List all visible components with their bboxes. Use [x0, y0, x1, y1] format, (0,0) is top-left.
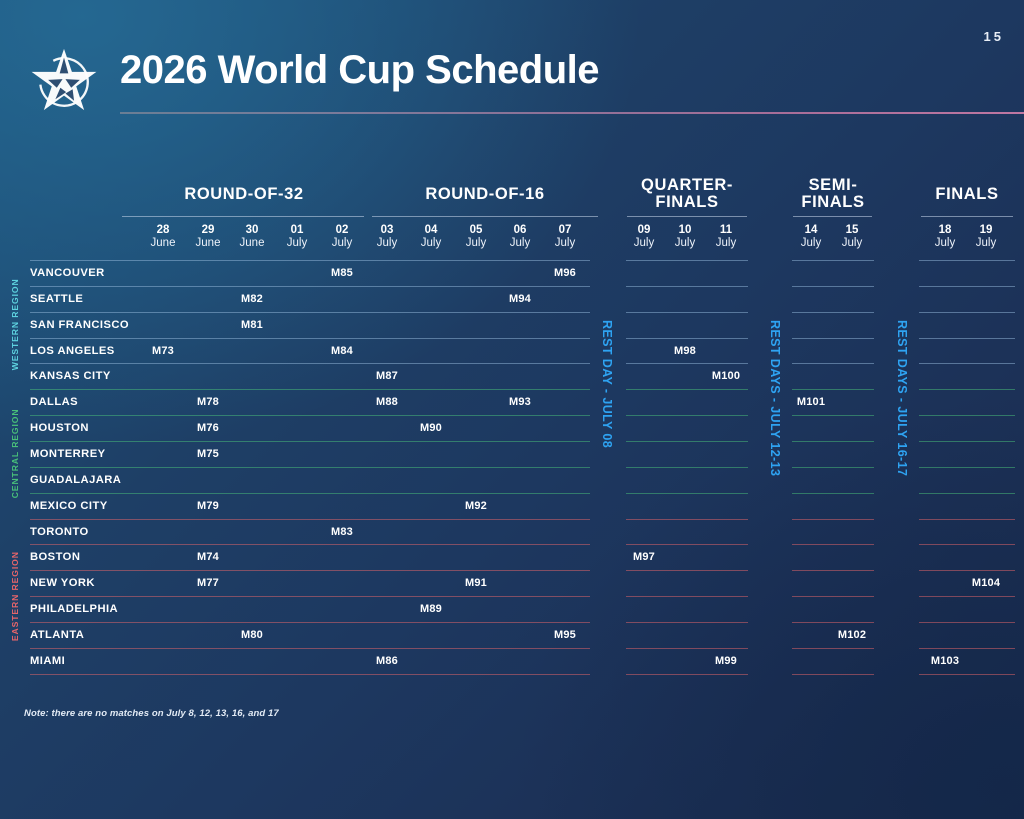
page-header: 2026 World Cup Schedule — [22, 44, 1002, 116]
rest-july-08: REST DAY - JULY 08 — [600, 320, 614, 448]
match-m89[interactable]: M89 — [406, 603, 456, 615]
stage-rule-round-of-16 — [372, 216, 598, 217]
row-separator — [919, 622, 1015, 623]
date-column-jul19[interactable]: 19July — [966, 224, 1006, 250]
match-m86[interactable]: M86 — [362, 655, 412, 667]
row-separator — [626, 544, 748, 545]
row-separator — [919, 467, 1015, 468]
row-separator — [792, 286, 874, 287]
date-column-jul02[interactable]: 02July — [322, 224, 362, 250]
row-separator — [919, 338, 1015, 339]
city-row-kansas-city[interactable]: KANSAS CITY — [30, 370, 111, 382]
date-day: 11 — [706, 224, 746, 237]
date-month: June — [143, 237, 183, 250]
row-separator — [626, 338, 748, 339]
date-month: July — [791, 237, 831, 250]
row-separator — [919, 596, 1015, 597]
row-separator — [626, 622, 748, 623]
row-separator — [30, 544, 590, 545]
title-divider — [120, 112, 1024, 114]
row-separator — [792, 570, 874, 571]
match-m80[interactable]: M80 — [227, 629, 277, 641]
date-column-jun29[interactable]: 29June — [188, 224, 228, 250]
match-m81[interactable]: M81 — [227, 319, 277, 331]
row-separator — [792, 467, 874, 468]
row-separator — [30, 596, 590, 597]
match-m82[interactable]: M82 — [227, 293, 277, 305]
row-separator — [919, 312, 1015, 313]
city-row-vancouver[interactable]: VANCOUVER — [30, 267, 105, 279]
match-m100[interactable]: M100 — [701, 370, 751, 382]
row-separator — [30, 286, 590, 287]
match-m91[interactable]: M91 — [451, 577, 501, 589]
row-separator — [919, 648, 1015, 649]
row-separator — [792, 338, 874, 339]
page-number: 15 — [984, 29, 1004, 44]
match-m97[interactable]: M97 — [619, 551, 669, 563]
city-row-philadelphia[interactable]: PHILADELPHIA — [30, 603, 118, 615]
row-separator — [792, 622, 874, 623]
match-m96[interactable]: M96 — [540, 267, 590, 279]
date-month: July — [545, 237, 585, 250]
date-day: 15 — [832, 224, 872, 237]
city-row-atlanta[interactable]: ATLANTA — [30, 629, 84, 641]
row-separator — [626, 415, 748, 416]
row-separator — [919, 389, 1015, 390]
city-row-dallas[interactable]: DALLAS — [30, 396, 78, 408]
date-month: July — [832, 237, 872, 250]
date-day: 04 — [411, 224, 451, 237]
city-row-guadalajara[interactable]: GUADALAJARA — [30, 474, 121, 486]
stage-rule-semi-finals — [793, 216, 872, 217]
row-separator — [626, 260, 748, 261]
row-separator — [30, 570, 590, 571]
row-separator — [792, 312, 874, 313]
city-row-monterrey[interactable]: MONTERREY — [30, 448, 106, 460]
row-separator — [626, 570, 748, 571]
date-column-jul11[interactable]: 11July — [706, 224, 746, 250]
row-separator — [919, 519, 1015, 520]
date-day: 14 — [791, 224, 831, 237]
rest-july-12-13: REST DAYS - JULY 12-13 — [768, 320, 782, 476]
match-m98[interactable]: M98 — [660, 345, 710, 357]
match-m74[interactable]: M74 — [183, 551, 233, 563]
date-column-jul03[interactable]: 03July — [367, 224, 407, 250]
city-row-miami[interactable]: MIAMI — [30, 655, 65, 667]
date-day: 01 — [277, 224, 317, 237]
date-day: 07 — [545, 224, 585, 237]
date-column-jul05[interactable]: 05July — [456, 224, 496, 250]
row-separator — [919, 441, 1015, 442]
row-separator — [30, 674, 590, 675]
date-column-jul10[interactable]: 10July — [665, 224, 705, 250]
region-label-western: WESTERN REGION — [10, 260, 20, 389]
date-month: July — [925, 237, 965, 250]
date-column-jul01[interactable]: 01July — [277, 224, 317, 250]
region-label-eastern: EASTERN REGION — [10, 519, 20, 674]
row-separator — [792, 260, 874, 261]
sf-line-1: SEMI- — [809, 176, 858, 194]
date-day: 10 — [665, 224, 705, 237]
row-separator — [626, 596, 748, 597]
date-column-jul04[interactable]: 04July — [411, 224, 451, 250]
row-separator — [30, 338, 590, 339]
row-separator — [919, 363, 1015, 364]
row-separator — [626, 312, 748, 313]
match-m88[interactable]: M88 — [362, 396, 412, 408]
row-separator — [626, 493, 748, 494]
date-column-jul07[interactable]: 07July — [545, 224, 585, 250]
row-separator — [792, 596, 874, 597]
match-m101[interactable]: M101 — [786, 396, 836, 408]
date-month: July — [966, 237, 1006, 250]
row-separator — [30, 467, 590, 468]
date-day: 18 — [925, 224, 965, 237]
match-m73[interactable]: M73 — [138, 345, 188, 357]
stage-heading-finals: FINALS — [919, 186, 1015, 203]
row-separator — [30, 648, 590, 649]
match-m90[interactable]: M90 — [406, 422, 456, 434]
row-separator — [30, 312, 590, 313]
row-separator — [792, 493, 874, 494]
match-m103[interactable]: M103 — [920, 655, 970, 667]
row-separator — [919, 493, 1015, 494]
stage-rule-finals — [921, 216, 1013, 217]
date-day: 09 — [624, 224, 664, 237]
stage-heading-round-of-16: ROUND-OF-16 — [369, 186, 601, 203]
match-m93[interactable]: M93 — [495, 396, 545, 408]
city-row-toronto[interactable]: TORONTO — [30, 526, 89, 538]
date-column-jul06[interactable]: 06July — [500, 224, 540, 250]
row-separator — [30, 389, 590, 390]
match-m95[interactable]: M95 — [540, 629, 590, 641]
row-separator — [792, 544, 874, 545]
stage-rule-quarter-finals — [627, 216, 747, 217]
match-m78[interactable]: M78 — [183, 396, 233, 408]
match-m83[interactable]: M83 — [317, 526, 367, 538]
match-m76[interactable]: M76 — [183, 422, 233, 434]
row-separator — [30, 415, 590, 416]
match-m99[interactable]: M99 — [701, 655, 751, 667]
date-column-jul18[interactable]: 18July — [925, 224, 965, 250]
date-day: 05 — [456, 224, 496, 237]
date-month: July — [322, 237, 362, 250]
row-separator — [792, 441, 874, 442]
match-m79[interactable]: M79 — [183, 500, 233, 512]
date-month: June — [232, 237, 272, 250]
row-separator — [792, 648, 874, 649]
date-month: June — [188, 237, 228, 250]
footnote: Note: there are no matches on July 8, 12… — [24, 708, 279, 719]
row-separator — [792, 389, 874, 390]
city-row-los-angeles[interactable]: LOS ANGELES — [30, 345, 115, 357]
match-m87[interactable]: M87 — [362, 370, 412, 382]
row-separator — [30, 519, 590, 520]
date-day: 19 — [966, 224, 1006, 237]
row-separator — [30, 622, 590, 623]
date-month: July — [456, 237, 496, 250]
date-month: July — [411, 237, 451, 250]
date-column-jun28[interactable]: 28June — [143, 224, 183, 250]
date-day: 28 — [143, 224, 183, 237]
row-separator — [626, 467, 748, 468]
page-title: 2026 World Cup Schedule — [120, 48, 599, 93]
row-separator — [30, 493, 590, 494]
row-separator — [626, 519, 748, 520]
row-separator — [626, 648, 748, 649]
stage-heading-quarter-finals: QUARTER- FINALS — [626, 177, 748, 212]
date-month: July — [665, 237, 705, 250]
date-day: 03 — [367, 224, 407, 237]
row-separator — [919, 674, 1015, 675]
city-row-new-york[interactable]: NEW YORK — [30, 577, 95, 589]
row-separator — [30, 441, 590, 442]
row-separator — [792, 674, 874, 675]
row-separator — [792, 363, 874, 364]
match-m102[interactable]: M102 — [827, 629, 877, 641]
date-day: 02 — [322, 224, 362, 237]
date-month: July — [277, 237, 317, 250]
date-day: 06 — [500, 224, 540, 237]
city-row-san-francisco[interactable]: SAN FRANCISCO — [30, 319, 129, 331]
row-separator — [919, 415, 1015, 416]
row-separator — [626, 389, 748, 390]
city-row-houston[interactable]: HOUSTON — [30, 422, 89, 434]
stage-rule-round-of-32 — [122, 216, 364, 217]
row-separator — [626, 286, 748, 287]
date-month: July — [367, 237, 407, 250]
row-separator — [30, 260, 590, 261]
qf-line-2: FINALS — [655, 193, 718, 211]
city-row-mexico-city[interactable]: MEXICO CITY — [30, 500, 108, 512]
row-separator — [792, 415, 874, 416]
row-separator — [919, 570, 1015, 571]
date-column-jul15[interactable]: 15July — [832, 224, 872, 250]
star-logo-icon — [28, 46, 100, 118]
date-month: July — [706, 237, 746, 250]
match-m84[interactable]: M84 — [317, 345, 367, 357]
match-m92[interactable]: M92 — [451, 500, 501, 512]
date-month: July — [624, 237, 664, 250]
city-row-boston[interactable]: BOSTON — [30, 551, 80, 563]
date-month: July — [500, 237, 540, 250]
stage-heading-semi-finals: SEMI- FINALS — [792, 177, 874, 212]
qf-line-1: QUARTER- — [641, 176, 733, 194]
row-separator — [30, 363, 590, 364]
date-column-jul14[interactable]: 14July — [791, 224, 831, 250]
row-separator — [919, 260, 1015, 261]
date-column-jun30[interactable]: 30June — [232, 224, 272, 250]
row-separator — [626, 674, 748, 675]
stage-heading-round-of-32: ROUND-OF-32 — [120, 186, 368, 203]
date-day: 29 — [188, 224, 228, 237]
match-m77[interactable]: M77 — [183, 577, 233, 589]
match-m94[interactable]: M94 — [495, 293, 545, 305]
row-separator — [919, 544, 1015, 545]
row-separator — [626, 441, 748, 442]
row-separator — [919, 286, 1015, 287]
match-m75[interactable]: M75 — [183, 448, 233, 460]
date-day: 30 — [232, 224, 272, 237]
row-separator — [792, 519, 874, 520]
match-m85[interactable]: M85 — [317, 267, 367, 279]
city-row-seattle[interactable]: SEATTLE — [30, 293, 83, 305]
sf-line-2: FINALS — [801, 193, 864, 211]
row-separator — [626, 363, 748, 364]
region-label-central: CENTRAL REGION — [10, 389, 20, 518]
match-m104[interactable]: M104 — [961, 577, 1011, 589]
rest-july-16-17: REST DAYS - JULY 16-17 — [895, 320, 909, 476]
schedule-board: ROUND-OF-32 ROUND-OF-16 QUARTER- FINALS … — [0, 170, 1024, 690]
date-column-jul09[interactable]: 09July — [624, 224, 664, 250]
